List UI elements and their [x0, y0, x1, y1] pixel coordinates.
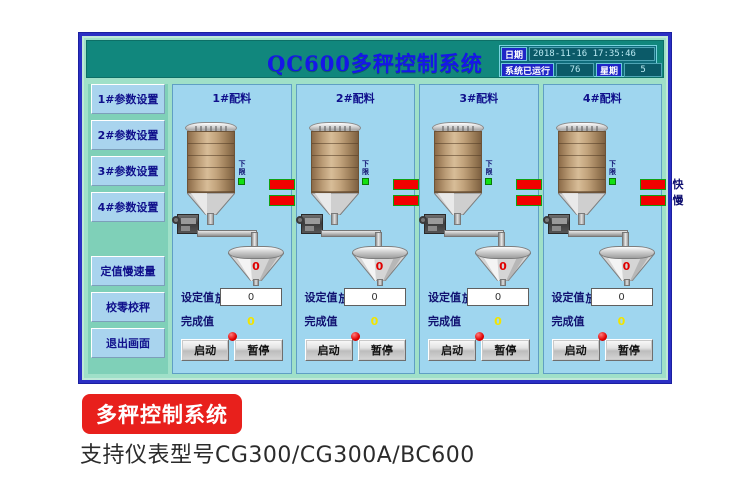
completed-label-1: 完成值 — [181, 313, 214, 329]
start-button-2[interactable]: 启动 — [305, 339, 353, 361]
pipe-horizontal-2 — [321, 230, 381, 237]
low-limit-lamp-2 — [362, 178, 369, 185]
fast-label-4: 快 — [673, 176, 684, 192]
hopper-weight-4: 0 — [599, 260, 655, 273]
feeder-knob-icon-3 — [419, 216, 427, 224]
station-title-3: 3#配料 — [420, 90, 538, 106]
setpoint-row-1: 设定值 0 — [181, 288, 282, 306]
hopper-weight-1: 0 — [228, 260, 284, 273]
control-buttons-2: 启动 暂停 — [305, 339, 407, 361]
silo-body-icon-3 — [434, 131, 482, 193]
low-limit-label-4: 下限 — [607, 160, 619, 176]
control-buttons-3: 启动 暂停 — [428, 339, 530, 361]
start-button-4[interactable]: 启动 — [552, 339, 600, 361]
silo-cone-icon-4 — [558, 193, 606, 215]
control-buttons-4: 启动 暂停 — [552, 339, 654, 361]
silo-cone-icon-3 — [434, 193, 482, 215]
silo-neck-icon-1 — [207, 213, 214, 225]
weigh-hopper-icon-3: 0 — [475, 246, 531, 288]
pipe-horizontal-3 — [444, 230, 504, 237]
sidebar-item-slow-speed-setpoint[interactable]: 定值慢速量 — [91, 256, 165, 286]
weigh-hopper-icon-1: 0 — [228, 246, 284, 288]
station-column-1: 1#配料 下限 快 — [172, 84, 292, 374]
weigh-hopper-icon-4: 0 — [599, 246, 655, 288]
fast-lamp-3 — [516, 179, 542, 190]
feeder-knob-icon-1 — [172, 216, 180, 224]
control-buttons-1: 启动 暂停 — [181, 339, 283, 361]
sidebar-spacer — [88, 228, 168, 256]
setpoint-row-3: 设定值 0 — [428, 288, 529, 306]
setpoint-label-2: 设定值 — [305, 289, 338, 305]
sidebar-item-param-setting-4[interactable]: 4#参数设置 — [91, 192, 165, 222]
slow-lamp-2 — [393, 195, 419, 206]
runtime-value: 76 — [556, 63, 594, 77]
feeder-knob-icon-2 — [296, 216, 304, 224]
fast-lamp-2 — [393, 179, 419, 190]
slow-feed-indicator-4: 慢 — [640, 192, 684, 208]
title-bar: QC600多秤控制系统 日期 2018-11-16 17:35:46 系统已运行… — [86, 40, 664, 78]
hopper-weight-2: 0 — [352, 260, 408, 273]
hopper-spout-3 — [500, 279, 506, 286]
setpoint-row-4: 设定值 0 — [552, 288, 653, 306]
feeder-knob-icon-4 — [543, 216, 551, 224]
start-button-1[interactable]: 启动 — [181, 339, 229, 361]
weekday-value: 5 — [624, 63, 662, 77]
completed-row-1: 完成值 0 — [181, 313, 282, 329]
completed-label-2: 完成值 — [305, 313, 338, 329]
low-limit-lamp-3 — [485, 178, 492, 185]
date-label: 日期 — [501, 47, 527, 61]
station-title-2: 2#配料 — [297, 90, 415, 106]
completed-label-3: 完成值 — [428, 313, 461, 329]
setpoint-label-1: 设定值 — [181, 289, 214, 305]
low-limit-label-2: 下限 — [360, 160, 372, 176]
pause-button-4[interactable]: 暂停 — [605, 339, 653, 361]
fast-lamp-1 — [269, 179, 295, 190]
fast-feed-indicator-4: 快 — [640, 176, 684, 192]
product-badge: 多秤控制系统 — [82, 394, 242, 434]
setpoint-row-2: 设定值 0 — [305, 288, 406, 306]
low-limit-lamp-4 — [609, 178, 616, 185]
hopper-weight-3: 0 — [475, 260, 531, 273]
date-value: 2018-11-16 17:35:46 — [529, 47, 655, 61]
date-row: 日期 2018-11-16 17:35:46 — [501, 47, 655, 61]
pause-button-3[interactable]: 暂停 — [481, 339, 529, 361]
silo-body-icon-4 — [558, 131, 606, 193]
sidebar-item-exit-screen[interactable]: 退出画面 — [91, 328, 165, 358]
hopper-rim-3 — [475, 246, 531, 259]
silo-neck-icon-3 — [454, 213, 461, 225]
feeder-valve-icon-1[interactable] — [177, 214, 199, 234]
feeder-valve-icon-4[interactable] — [548, 214, 570, 234]
silo-body-icon-1 — [187, 131, 235, 193]
weekday-label: 星期 — [596, 63, 622, 77]
setpoint-input-3[interactable]: 0 — [467, 288, 529, 306]
completed-value-2: 0 — [344, 315, 406, 328]
silo-neck-icon-4 — [578, 213, 585, 225]
completed-row-3: 完成值 0 — [428, 313, 529, 329]
runtime-row: 系统已运行 76 星期 5 — [501, 63, 655, 77]
product-caption: 支持仪表型号CG300/CG300A/BC600 — [80, 437, 475, 469]
hopper-rim-4 — [599, 246, 655, 259]
completed-value-3: 0 — [467, 315, 529, 328]
completed-row-4: 完成值 0 — [552, 313, 653, 329]
hmi-screen: QC600多秤控制系统 日期 2018-11-16 17:35:46 系统已运行… — [82, 36, 668, 380]
silo-cone-icon-2 — [311, 193, 359, 215]
run-status-dot-3 — [475, 332, 484, 341]
fast-lamp-4 — [640, 179, 666, 190]
setpoint-input-1[interactable]: 0 — [220, 288, 282, 306]
start-button-3[interactable]: 启动 — [428, 339, 476, 361]
feeder-valve-icon-2[interactable] — [301, 214, 323, 234]
run-status-dot-1 — [228, 332, 237, 341]
station-title-1: 1#配料 — [173, 90, 291, 106]
slow-lamp-3 — [516, 195, 542, 206]
hmi-panel: QC600多秤控制系统 日期 2018-11-16 17:35:46 系统已运行… — [78, 32, 672, 384]
completed-value-4: 0 — [591, 315, 653, 328]
slow-lamp-4 — [640, 195, 666, 206]
hopper-rim-1 — [228, 246, 284, 259]
low-limit-lamp-1 — [238, 178, 245, 185]
station-column-3: 3#配料 下限 快 — [419, 84, 539, 374]
runtime-label: 系统已运行 — [501, 63, 554, 77]
silo-neck-icon-2 — [331, 213, 338, 225]
pause-button-1[interactable]: 暂停 — [234, 339, 282, 361]
slow-label-4: 慢 — [673, 192, 684, 208]
low-limit-label-3: 下限 — [483, 160, 495, 176]
setpoint-label-4: 设定值 — [552, 289, 585, 305]
hopper-spout-4 — [624, 279, 630, 286]
equipment-diagram-3: 下限 快 慢 — [420, 108, 538, 268]
silo-cone-icon-1 — [187, 193, 235, 215]
sidebar-item-param-setting-2[interactable]: 2#参数设置 — [91, 120, 165, 150]
silo-body-icon-2 — [311, 131, 359, 193]
completed-row-2: 完成值 0 — [305, 313, 406, 329]
hopper-spout-1 — [253, 279, 259, 286]
feeder-valve-icon-3[interactable] — [424, 214, 446, 234]
hopper-rim-2 — [352, 246, 408, 259]
sidebar-item-zero-calibration[interactable]: 校零校秤 — [91, 292, 165, 322]
setpoint-input-2[interactable]: 0 — [344, 288, 406, 306]
sidebar-item-param-setting-1[interactable]: 1#参数设置 — [91, 84, 165, 114]
setpoint-label-3: 设定值 — [428, 289, 461, 305]
pause-button-2[interactable]: 暂停 — [358, 339, 406, 361]
equipment-diagram-2: 下限 快 慢 — [297, 108, 415, 268]
slow-lamp-1 — [269, 195, 295, 206]
setpoint-input-4[interactable]: 0 — [591, 288, 653, 306]
completed-value-1: 0 — [220, 315, 282, 328]
station-columns: 1#配料 下限 快 — [172, 84, 662, 374]
equipment-diagram-1: 下限 快 慢 — [173, 108, 291, 268]
completed-label-4: 完成值 — [552, 313, 585, 329]
sidebar-item-param-setting-3[interactable]: 3#参数设置 — [91, 156, 165, 186]
weigh-hopper-icon-2: 0 — [352, 246, 408, 288]
station-column-4: 4#配料 下限 快 — [543, 84, 663, 374]
low-limit-label-1: 下限 — [236, 160, 248, 176]
station-title-4: 4#配料 — [544, 90, 662, 106]
hopper-spout-2 — [377, 279, 383, 286]
status-panel: 日期 2018-11-16 17:35:46 系统已运行 76 星期 5 — [499, 45, 657, 77]
sidebar: 1#参数设置 2#参数设置 3#参数设置 4#参数设置 定值慢速量 校零校秤 退… — [88, 84, 168, 374]
pipe-horizontal-4 — [568, 230, 628, 237]
station-column-2: 2#配料 下限 快 — [296, 84, 416, 374]
equipment-diagram-4: 下限 快 慢 — [544, 108, 662, 268]
pipe-horizontal-1 — [197, 230, 257, 237]
